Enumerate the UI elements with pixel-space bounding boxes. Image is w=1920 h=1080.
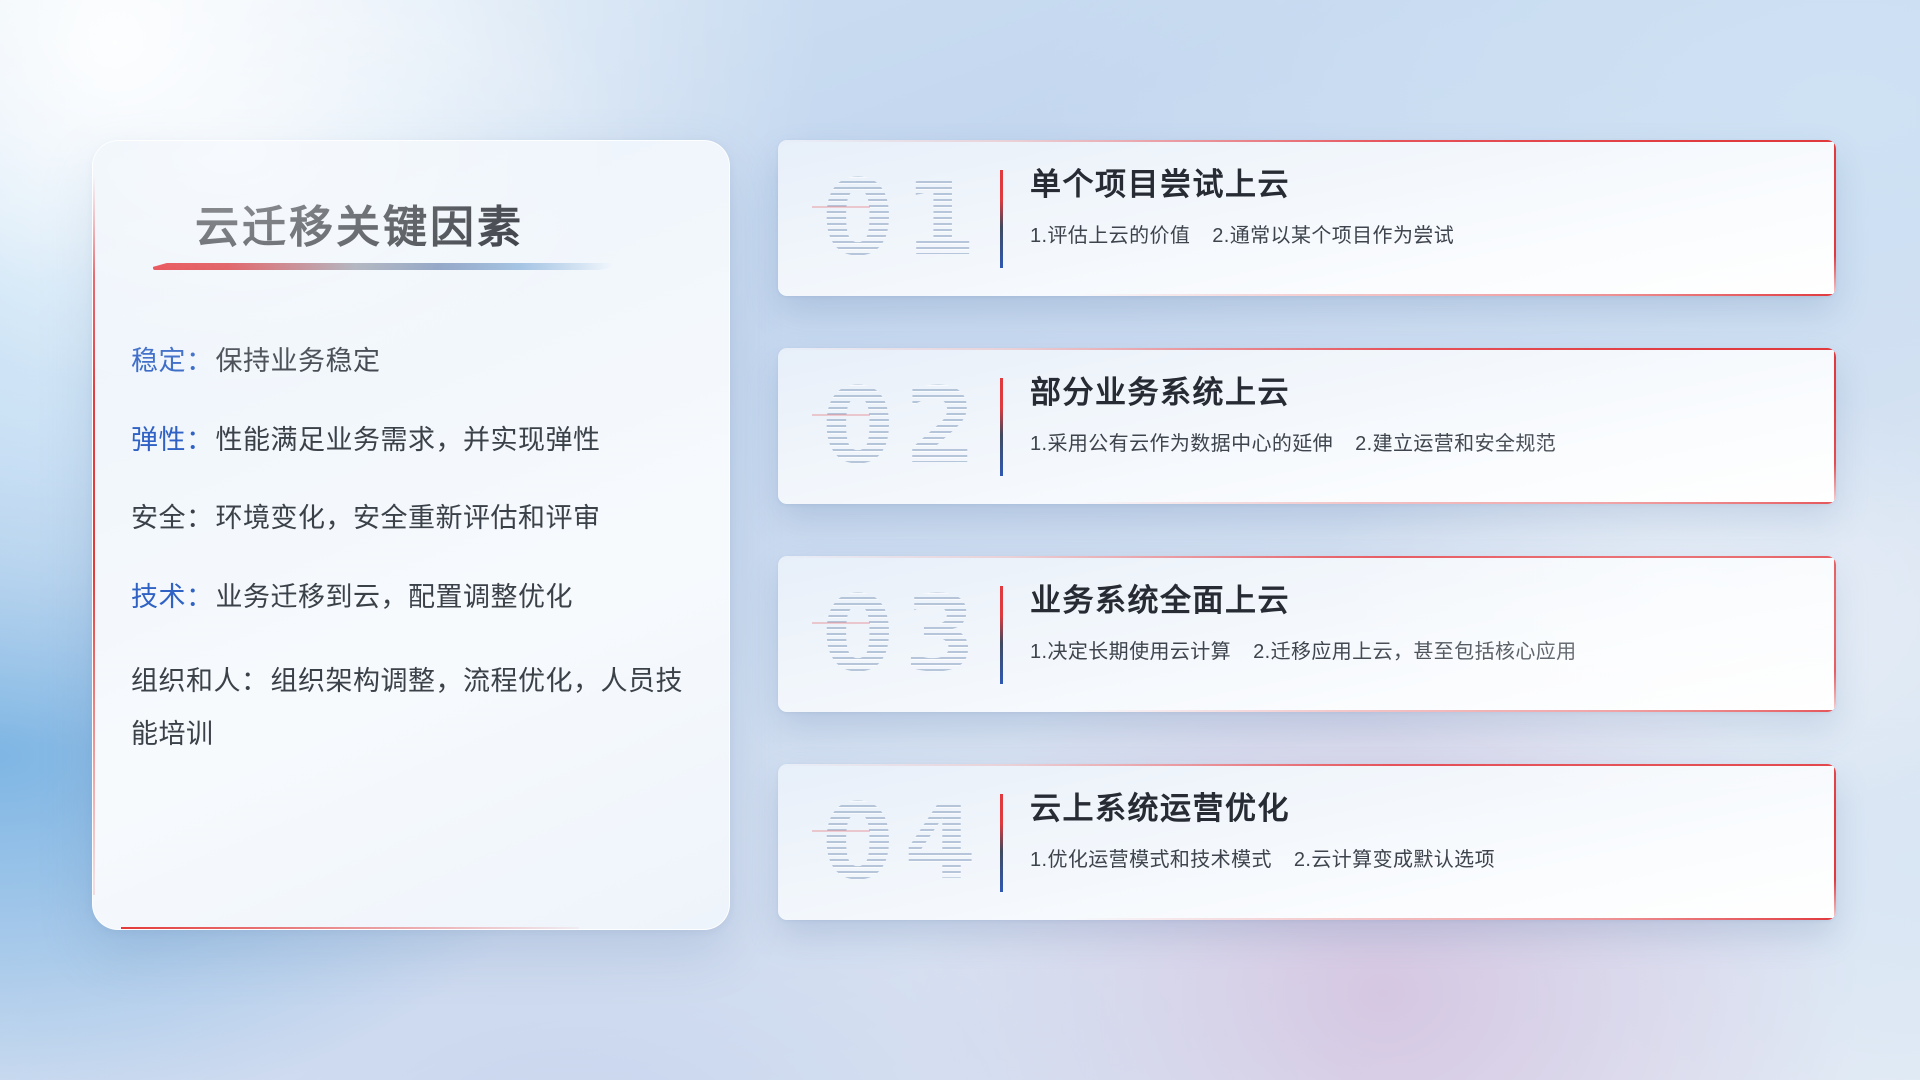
- step-desc-part-2: 2.通常以某个项目作为尝试: [1212, 225, 1454, 247]
- card-bottom-accent-line: [1074, 918, 1836, 920]
- key-factors-list: 稳定：保持业务稳定 弹性：性能满足业务需求，并实现弹性 安全：环境变化，安全重新…: [131, 341, 699, 798]
- step-description: 1.评估上云的价值2.通常以某个项目作为尝试: [1030, 219, 1812, 248]
- card-top-accent-line: [778, 556, 1836, 558]
- step-desc-part-2: 2.迁移应用上云，甚至包括核心应用: [1253, 641, 1576, 663]
- step-text-block: 云上系统运营优化 1.优化运营模式和技术模式2.云计算变成默认选项: [1030, 790, 1812, 872]
- step-card-01[interactable]: 01 单个项目尝试上云 1.评估上云的价值2.通常以某个项目作为尝试: [778, 140, 1836, 296]
- step-desc-part-2: 2.云计算变成默认选项: [1294, 849, 1495, 871]
- step-accent-bar: [1000, 586, 1003, 684]
- list-item: 弹性：性能满足业务需求，并实现弹性: [131, 420, 699, 461]
- step-desc-part-1: 1.采用公有云作为数据中心的延伸: [1030, 433, 1333, 455]
- list-item-key: 组织和人：: [131, 666, 269, 696]
- step-title: 部分业务系统上云: [1030, 374, 1812, 413]
- card-top-accent-line: [778, 764, 1836, 766]
- card-top-accent-line: [778, 348, 1836, 350]
- step-number-watermark: 02: [804, 362, 1004, 490]
- card-bottom-accent-line: [1074, 710, 1836, 712]
- list-item-text: 业务迁移到云，配置调整优化: [216, 582, 574, 612]
- step-desc-part-2: 2.建立运营和安全规范: [1355, 433, 1556, 455]
- step-description: 1.优化运营模式和技术模式2.云计算变成默认选项: [1030, 843, 1812, 872]
- step-desc-part-1: 1.决定长期使用云计算: [1030, 641, 1231, 663]
- page-title: 云迁移关键因素: [195, 191, 524, 255]
- list-item: 技术：业务迁移到云，配置调整优化: [131, 577, 699, 618]
- list-item-text: 性能满足业务需求，并实现弹性: [216, 425, 601, 455]
- list-item: 稳定：保持业务稳定: [131, 341, 699, 382]
- card-bottom-accent-line: [1074, 502, 1836, 504]
- card-right-accent-line: [1834, 348, 1836, 504]
- list-item: 安全：环境变化，安全重新评估和评审: [131, 498, 699, 539]
- step-desc-part-1: 1.评估上云的价值: [1030, 225, 1190, 247]
- list-item-key: 安全：: [131, 503, 214, 533]
- card-right-accent-line: [1834, 140, 1836, 296]
- step-title: 单个项目尝试上云: [1030, 166, 1812, 205]
- title-underline-gradient: [153, 263, 613, 270]
- step-accent-bar: [1000, 378, 1003, 476]
- step-desc-part-1: 1.优化运营模式和技术模式: [1030, 849, 1272, 871]
- step-accent-bar: [1000, 170, 1003, 268]
- list-item-key: 弹性：: [131, 425, 214, 455]
- step-title: 云上系统运营优化: [1030, 790, 1812, 829]
- card-left-accent-line: [93, 175, 95, 895]
- step-accent-bar: [1000, 794, 1003, 892]
- list-item-key: 技术：: [131, 582, 214, 612]
- step-number-watermark: 01: [804, 154, 1004, 282]
- step-title: 业务系统全面上云: [1030, 582, 1812, 621]
- step-number-watermark: 03: [804, 570, 1004, 698]
- step-number-watermark: 04: [804, 778, 1004, 906]
- step-description: 1.决定长期使用云计算2.迁移应用上云，甚至包括核心应用: [1030, 635, 1812, 664]
- list-item: 组织和人：组织架构调整，流程优化，人员技能培训: [131, 655, 699, 760]
- list-item-text: 环境变化，安全重新评估和评审: [216, 503, 601, 533]
- step-text-block: 单个项目尝试上云 1.评估上云的价值2.通常以某个项目作为尝试: [1030, 166, 1812, 248]
- card-top-accent-line: [778, 140, 1836, 142]
- card-right-accent-line: [1834, 556, 1836, 712]
- card-right-accent-line: [1834, 764, 1836, 920]
- step-card-02[interactable]: 02 部分业务系统上云 1.采用公有云作为数据中心的延伸2.建立运营和安全规范: [778, 348, 1836, 504]
- list-item-key: 稳定：: [131, 346, 214, 376]
- step-card-04[interactable]: 04 云上系统运营优化 1.优化运营模式和技术模式2.云计算变成默认选项: [778, 764, 1836, 920]
- card-bottom-accent-line: [1074, 294, 1836, 296]
- card-bottom-accent-line: [121, 927, 579, 929]
- step-text-block: 业务系统全面上云 1.决定长期使用云计算2.迁移应用上云，甚至包括核心应用: [1030, 582, 1812, 664]
- step-text-block: 部分业务系统上云 1.采用公有云作为数据中心的延伸2.建立运营和安全规范: [1030, 374, 1812, 456]
- list-item-text: 保持业务稳定: [216, 346, 381, 376]
- slide-canvas: 云迁移关键因素 稳定：保持业务稳定 弹性：性能满足业务需求，并实现弹性 安全：环…: [0, 0, 1920, 1080]
- step-card-03[interactable]: 03 业务系统全面上云 1.决定长期使用云计算2.迁移应用上云，甚至包括核心应用: [778, 556, 1836, 712]
- key-factors-card: 云迁移关键因素 稳定：保持业务稳定 弹性：性能满足业务需求，并实现弹性 安全：环…: [92, 140, 730, 930]
- step-description: 1.采用公有云作为数据中心的延伸2.建立运营和安全规范: [1030, 427, 1812, 456]
